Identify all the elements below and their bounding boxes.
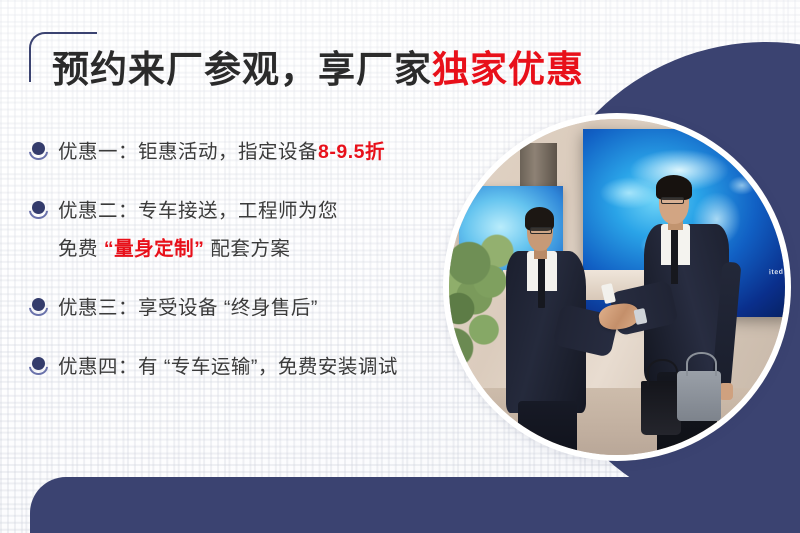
list-item-line: 优惠一：钜惠活动，指定设备8-9.5折: [58, 133, 385, 171]
line2-text-dark-before: 免费: [58, 238, 104, 260]
bullet-dot: [32, 357, 45, 370]
line-text-dark: 优惠一：钜惠活动，指定设备: [58, 141, 318, 163]
right-person-glasses: [661, 197, 685, 204]
list-item: 优惠三：享受设备 “终身售后”: [28, 289, 498, 327]
left-person-tie: [538, 254, 545, 308]
handshake-photo: ing United ited: [449, 119, 785, 455]
list-item-text: 优惠二：专车接送，工程师为您 免费 “量身定制” 配套方案: [58, 192, 338, 268]
page-title: 预约来厂参观，享厂家独家优惠: [52, 48, 584, 92]
left-person-glasses: [530, 227, 552, 233]
list-item: 优惠四：有 “专车运输”，免费安装调试: [28, 348, 498, 386]
photo-person-left: [493, 210, 607, 455]
list-item-line-2: 免费 “量身定制” 配套方案: [58, 230, 338, 268]
bottom-navy-bar: [30, 477, 800, 533]
headline-red-text: 独家优惠: [432, 49, 584, 90]
circle-bullet-icon: [28, 296, 50, 318]
right-person-hand: [719, 383, 733, 400]
circle-bullet-icon: [28, 140, 50, 162]
benefits-list: 优惠一：钜惠活动，指定设备8-9.5折 优惠二：专车接送，工程师为您 免费 “量…: [28, 133, 498, 386]
right-person-tie: [671, 226, 678, 284]
bullet-dot: [32, 142, 45, 155]
line-text-red: 8-9.5折: [318, 141, 385, 163]
line-text-dark: 优惠四：有 “专车运输”，免费安装调试: [58, 356, 398, 378]
circle-bullet-icon: [28, 199, 50, 221]
list-item-text: 优惠三：享受设备 “终身售后”: [58, 289, 318, 327]
black-handbag: [641, 381, 681, 435]
circle-bullet-icon: [28, 355, 50, 377]
screen-caption-right: ited: [769, 269, 784, 277]
promo-poster: ing United ited: [0, 0, 800, 533]
bullet-dot: [32, 201, 45, 214]
bullet-dot: [32, 298, 45, 311]
left-person-legs: [518, 401, 577, 455]
headline-dark-text: 预约来厂参观，享厂家: [52, 49, 432, 90]
line-text-dark: 优惠二：专车接送，工程师为您: [58, 200, 338, 222]
line2-text-dark-after: 配套方案: [204, 238, 290, 260]
list-item-text: 优惠一：钜惠活动，指定设备8-9.5折: [58, 133, 385, 171]
list-item-line: 优惠四：有 “专车运输”，免费安装调试: [58, 348, 398, 386]
list-item-text: 优惠四：有 “专车运输”，免费安装调试: [58, 348, 398, 386]
gray-handbag: [677, 371, 721, 421]
line2-text-red: “量身定制”: [104, 238, 205, 260]
list-item: 优惠二：专车接送，工程师为您 免费 “量身定制” 配套方案: [28, 192, 498, 268]
list-item-line: 优惠三：享受设备 “终身售后”: [58, 289, 318, 327]
list-item-line: 优惠二：专车接送，工程师为您: [58, 192, 338, 230]
list-item: 优惠一：钜惠活动，指定设备8-9.5折: [28, 133, 498, 171]
line-text-dark: 优惠三：享受设备 “终身售后”: [58, 297, 318, 319]
